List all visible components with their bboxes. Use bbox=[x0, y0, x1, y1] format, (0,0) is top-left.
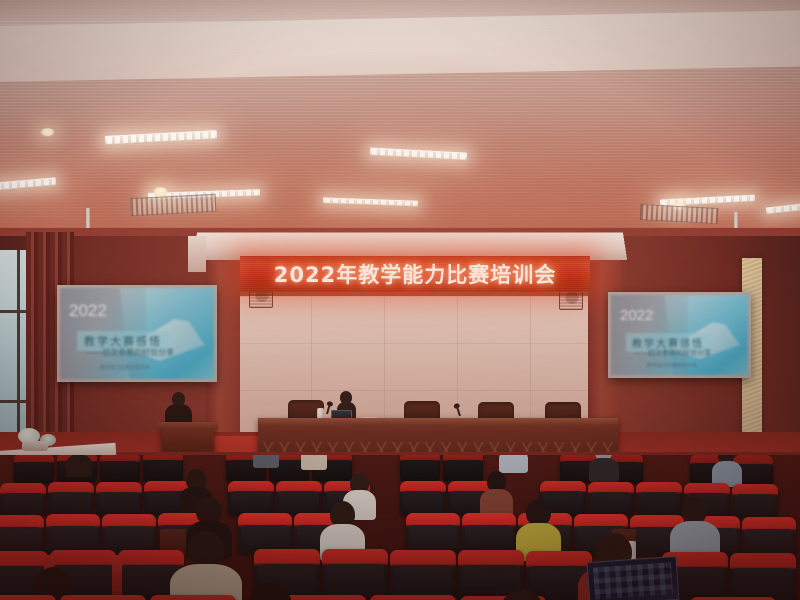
auditorium-seat bbox=[150, 595, 236, 600]
ceiling bbox=[0, 0, 800, 262]
person-torso bbox=[66, 455, 92, 477]
projection-screen-left: 2022 教学大赛感悟 ——初次参赛的经验分享 教学能力比赛经验分享 bbox=[57, 285, 217, 382]
auditorium-seat bbox=[400, 455, 440, 481]
slide-year: 2022 bbox=[620, 307, 653, 324]
auditorium-seat bbox=[636, 482, 682, 516]
auditorium-seat bbox=[102, 514, 156, 554]
led-banner: 2022年教学能力比赛培训会 bbox=[240, 256, 590, 292]
auditorium-seat bbox=[100, 455, 140, 482]
audience-laptop bbox=[587, 556, 680, 600]
auditorium-seat bbox=[0, 483, 46, 517]
auditorium-seat bbox=[406, 513, 460, 553]
auditorium-seat bbox=[400, 481, 446, 515]
auditorium-seat bbox=[443, 455, 483, 481]
slide-content-left: 2022 教学大赛感悟 ——初次参赛的经验分享 教学能力比赛经验分享 bbox=[60, 288, 214, 379]
ceiling-downlight bbox=[40, 128, 55, 137]
auditorium-seat bbox=[0, 515, 44, 555]
auditorium-seat bbox=[143, 455, 183, 481]
auditorium-seat bbox=[0, 595, 56, 600]
auditorium-seat bbox=[370, 595, 456, 600]
auditorium-seat bbox=[46, 514, 100, 554]
slide-subtitle: ——初次参赛的经验分享 bbox=[86, 347, 174, 358]
table-top-edge bbox=[258, 418, 618, 425]
person-torso bbox=[499, 455, 528, 473]
podium-ledge bbox=[158, 422, 218, 430]
person-torso bbox=[589, 458, 619, 482]
auditorium-seat bbox=[732, 484, 778, 518]
person-head bbox=[682, 497, 707, 524]
slide-footer: 教学能力比赛经验分享 bbox=[100, 364, 150, 371]
auditorium-seat bbox=[730, 553, 796, 600]
auditorium-seat bbox=[742, 517, 796, 557]
auditorium-seat bbox=[60, 595, 146, 600]
flower-pot bbox=[22, 441, 48, 451]
auditorium-seat bbox=[48, 482, 94, 516]
ceiling-downlight bbox=[153, 187, 168, 196]
laptop-screen-icons bbox=[593, 562, 673, 599]
slide-footer: 教学能力比赛经验分享 bbox=[647, 362, 697, 369]
auditorium-seat bbox=[276, 481, 322, 515]
person-torso bbox=[253, 455, 279, 468]
slide-content-right: 2022 教学大赛感悟 ——初次参赛的经验分享 教学能力比赛经验分享 bbox=[611, 295, 748, 375]
front-soffit-return bbox=[188, 236, 206, 272]
auditorium-seat bbox=[96, 482, 142, 516]
audience-seating-area bbox=[0, 455, 800, 600]
person-torso bbox=[301, 455, 327, 470]
auditorium-seat bbox=[14, 455, 54, 483]
slide-year: 2022 bbox=[69, 301, 107, 321]
projection-screen-right: 2022 教学大赛感悟 ——初次参赛的经验分享 教学能力比赛经验分享 bbox=[608, 292, 751, 378]
person-head bbox=[526, 499, 551, 526]
led-banner-text: 2022年教学能力比赛培训会 bbox=[274, 259, 556, 289]
auditorium-seat bbox=[238, 513, 292, 553]
auditorium-seat bbox=[280, 595, 366, 600]
auditorium-seat bbox=[390, 550, 456, 599]
auditorium-seat bbox=[228, 481, 274, 515]
auditorium-seat bbox=[462, 513, 516, 553]
seat-armrest bbox=[112, 555, 122, 597]
auditorium-seat bbox=[322, 549, 388, 598]
auditorium-seat bbox=[588, 482, 634, 516]
slide-subtitle: ——初次参赛的经验分享 bbox=[634, 348, 711, 358]
auditorium-photo: 2022年教学能力比赛培训会 2022 教学大赛感悟 ——初次参赛的经验分享 教… bbox=[0, 0, 800, 600]
